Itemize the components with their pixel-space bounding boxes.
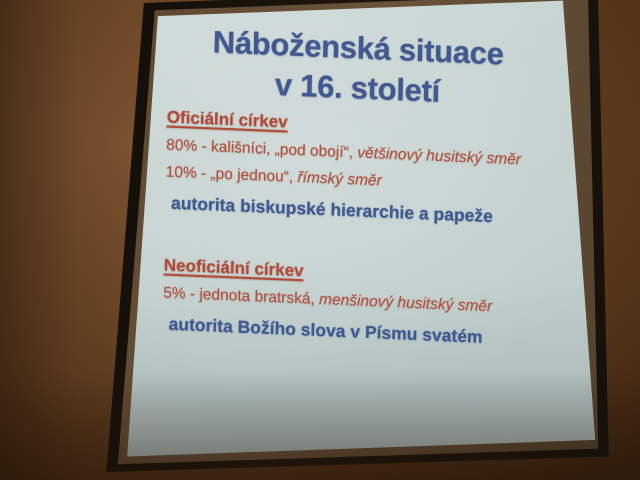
bullet-text-italic: většinový husitský směr xyxy=(357,144,521,168)
bullet-official-pojednou: 10% - „po jednou“, římský směr xyxy=(166,163,558,197)
slide-section-unofficial: Neoficiální církev 5% - jednota bratrská… xyxy=(150,255,555,351)
photograph-scene: Náboženská situace v 16. století Oficiál… xyxy=(0,0,640,480)
slide-title: Náboženská situace v 16. století xyxy=(155,8,561,117)
bullet-text-italic: římský směr xyxy=(297,169,382,190)
bullet-unofficial-authority: autorita Božího slova v Písmu svatém xyxy=(168,313,554,350)
bullet-unofficial-jednota: 5% - jednota bratrská, menšinový husitsk… xyxy=(163,284,555,318)
bullet-text-italic: menšinový husitský směr xyxy=(319,291,492,315)
bullet-text-plain: 5% - jednota bratrská, xyxy=(163,284,319,308)
bullet-text-plain: 80% - kališníci, „pod obojí“, xyxy=(166,136,357,161)
wall-shadow-bottom xyxy=(0,370,640,480)
slide-section-official: Oficiální církev 80% - kališníci, „pod o… xyxy=(153,107,559,230)
bullet-text-plain: 10% - „po jednou“, xyxy=(166,163,298,186)
